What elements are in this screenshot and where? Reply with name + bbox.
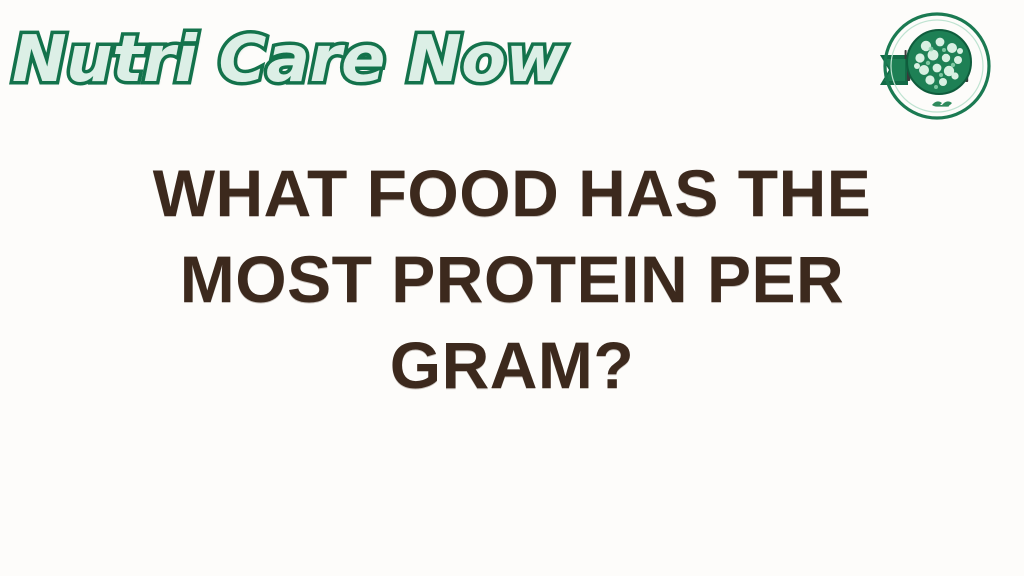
brand-emblem-badge: [874, 6, 996, 128]
brand-wordmark: Nutri Care Now: [12, 14, 555, 106]
headline-line-1: WHAT FOOD HAS THE: [0, 150, 1024, 236]
headline: WHAT FOOD HAS THE MOST PROTEIN PER GRAM?: [0, 150, 1024, 408]
leaf-sprig-icon: [932, 101, 952, 106]
brand-wordmark-text: Nutri Care Now: [12, 28, 565, 92]
food-bowl-badge-icon: [874, 6, 996, 128]
headline-line-2: MOST PROTEIN PER: [0, 236, 1024, 322]
headline-line-3: GRAM?: [0, 322, 1024, 408]
food-bowl-icon: [907, 30, 971, 94]
slide-canvas: Nutri Care Now: [0, 0, 1024, 576]
